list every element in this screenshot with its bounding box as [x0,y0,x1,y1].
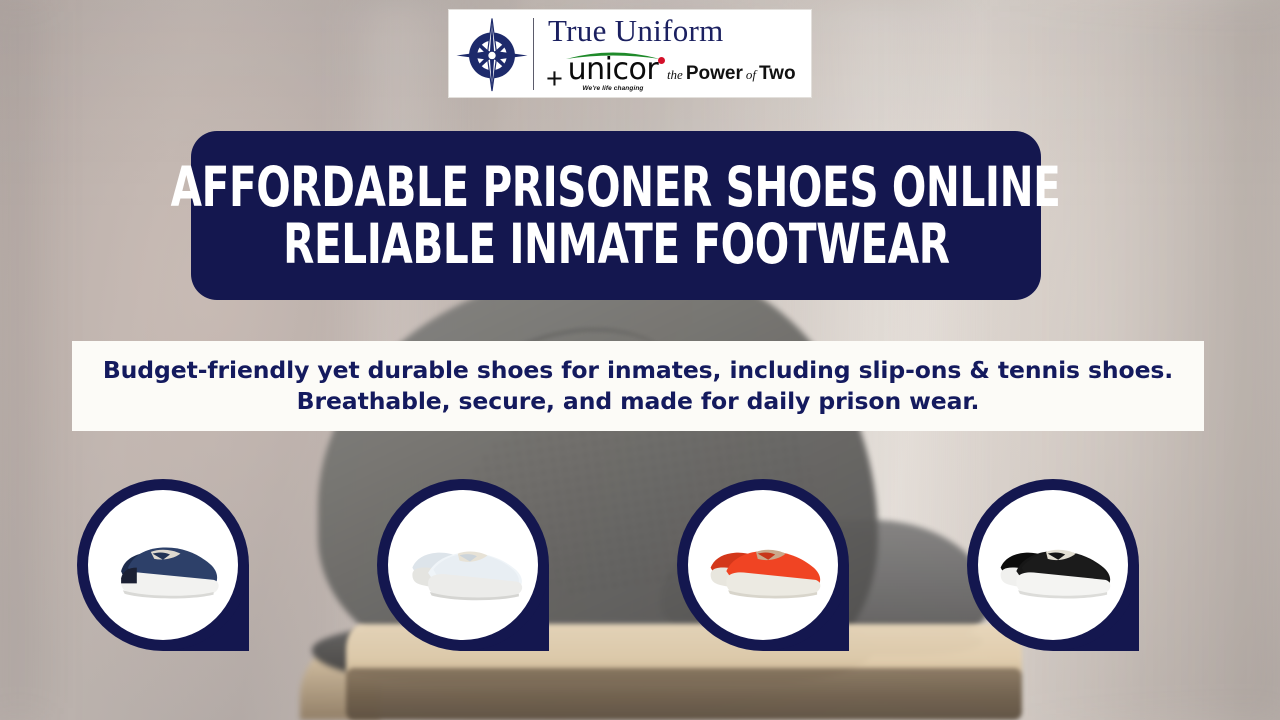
subtitle-line-2: Breathable, secure, and made for daily p… [297,386,980,417]
unicor-wordmark-text: unicor [568,52,659,87]
plus-sign-icon: + [546,67,563,92]
circle-inner [388,490,538,640]
headline-line-2: RELIABLE INMATE FOOTWEAR [283,216,949,273]
logo-divider [533,18,534,90]
circle-inner [88,490,238,640]
subtitle-band: Budget-friendly yet durable shoes for in… [72,341,1204,431]
brand-name-true-uniform: True Uniform [544,15,803,47]
product-circle-white-slip-on [377,479,549,651]
headline-banner: AFFORDABLE PRISONER SHOES ONLINE RELIABL… [191,131,1041,300]
red-slip-on-shoe-image [701,517,825,613]
unicor-lockup: unicor We're life changing [565,48,661,92]
brand-name-unicor: unicor [568,56,659,84]
white-slip-on-shoe-image [401,517,525,613]
compass-rose-icon [455,15,529,93]
tagline-two: Two [759,63,796,85]
headline-line-1: AFFORDABLE PRISONER SHOES ONLINE [171,159,1061,216]
banner-stage: True Uniform + unicor We're life changin… [0,0,1280,720]
product-circle-black-slip-on [967,479,1139,651]
black-slip-on-shoe-image [991,517,1115,613]
brand-logo-card: True Uniform + unicor We're life changin… [448,9,812,98]
power-of-two-tagline: the Power of Two [667,63,796,92]
navy-slip-on-shoe-image [101,517,225,613]
red-dot-icon [658,57,665,64]
tagline-power: Power [686,63,743,85]
product-circle-red-slip-on [677,479,849,651]
circle-inner [978,490,1128,640]
subtitle-line-1: Budget-friendly yet durable shoes for in… [103,355,1173,386]
circle-inner [688,490,838,640]
product-circle-navy-slip-on [77,479,249,651]
tagline-the: the [667,67,683,83]
logo-text-column: True Uniform + unicor We're life changin… [544,14,803,93]
logo-secondary-row: + unicor We're life changing the Power o… [544,48,803,92]
tagline-of: of [746,67,756,83]
